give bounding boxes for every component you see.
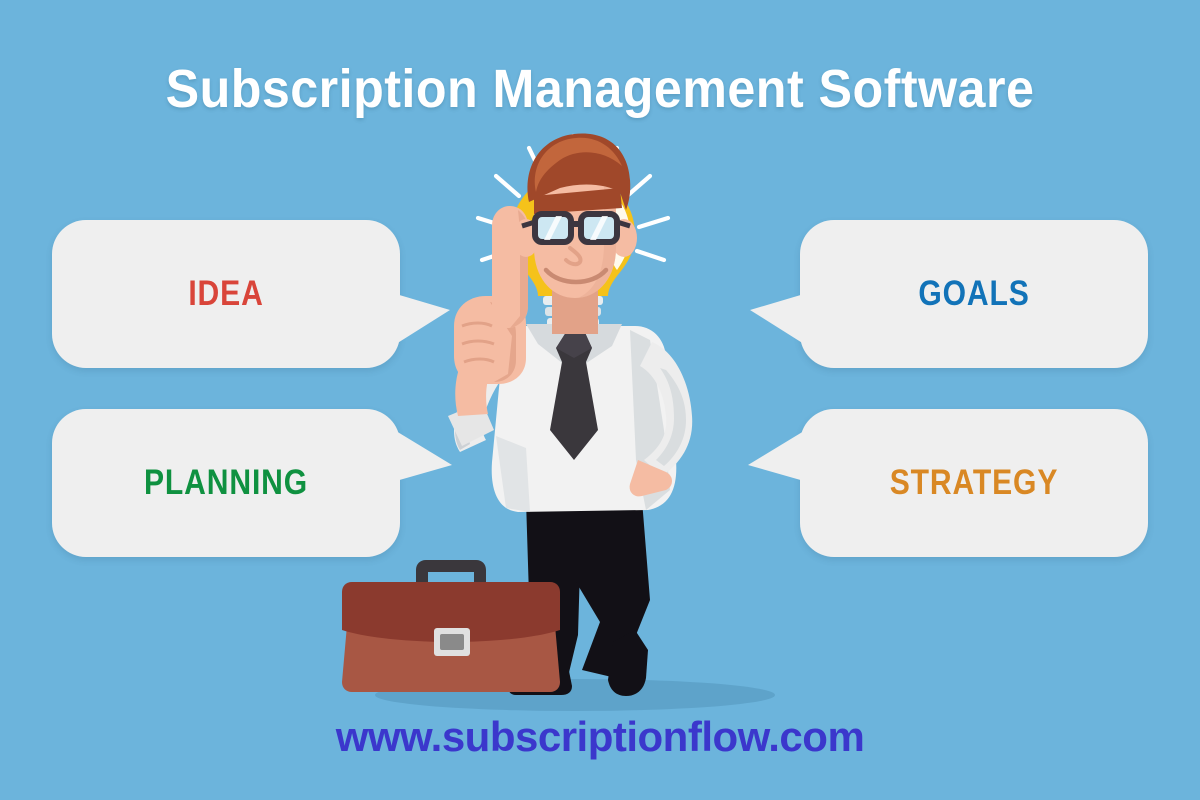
bubble-tail-strategy bbox=[748, 431, 804, 481]
speech-bubble-goals[interactable]: GOALS bbox=[800, 220, 1148, 368]
briefcase-latch bbox=[440, 634, 464, 650]
page-title: Subscription Management Software bbox=[42, 58, 1158, 120]
speech-bubble-strategy[interactable]: STRATEGY bbox=[800, 409, 1148, 557]
briefcase-icon bbox=[342, 560, 560, 692]
speech-bubble-idea[interactable]: IDEA bbox=[52, 220, 400, 368]
bubble-tail-goals bbox=[750, 294, 804, 344]
briefcase-handle bbox=[416, 560, 486, 582]
bubble-label-goals: GOALS bbox=[824, 274, 1123, 314]
bubble-tail-idea bbox=[396, 294, 450, 344]
bubble-label-strategy: STRATEGY bbox=[824, 463, 1123, 503]
infographic-canvas: Subscription Management Software bbox=[0, 0, 1200, 800]
footer-website-url[interactable]: www.subscriptionflow.com bbox=[0, 713, 1200, 761]
bubble-label-idea: IDEA bbox=[76, 274, 375, 314]
character-head bbox=[513, 133, 637, 334]
speech-bubble-planning[interactable]: PLANNING bbox=[52, 409, 400, 557]
bubble-tail-planning bbox=[396, 431, 452, 481]
bubble-label-planning: PLANNING bbox=[76, 463, 375, 503]
illustration-businessman-with-idea bbox=[330, 130, 810, 720]
